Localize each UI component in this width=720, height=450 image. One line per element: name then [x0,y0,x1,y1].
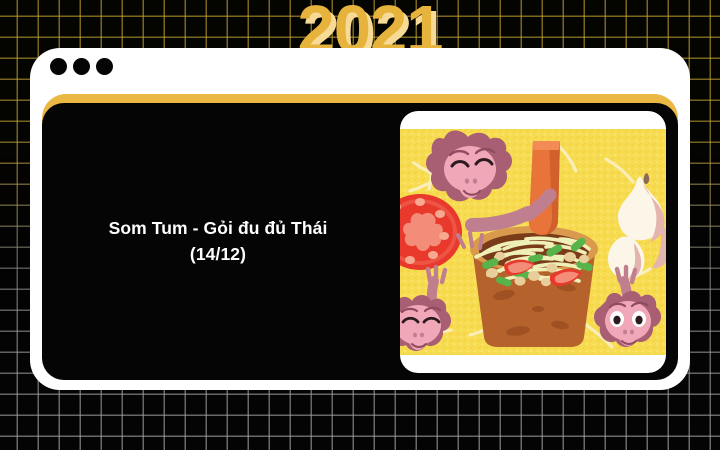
illustration-image [400,129,666,355]
caption-block: Som Tum - Gỏi đu đủ Thái (14/12) [42,103,394,380]
window-frame: Som Tum - Gỏi đu đủ Thái (14/12) [30,48,690,390]
window-minimize-dot[interactable] [73,58,90,75]
window-close-dot[interactable] [50,58,67,75]
window-maximize-dot[interactable] [96,58,113,75]
slide-canvas: 2021 Som Tum - Gỏi đu đủ Thái (14/12) [0,0,720,450]
window-content: Som Tum - Gỏi đu đủ Thái (14/12) [42,103,678,380]
illustration-frame [400,111,666,373]
caption-title: Som Tum - Gỏi đu đủ Thái [109,218,328,238]
caption-text: Som Tum - Gỏi đu đủ Thái (14/12) [109,216,328,267]
traffic-lights [50,58,113,75]
pestle [529,141,560,235]
caption-subtitle: (14/12) [109,242,328,267]
